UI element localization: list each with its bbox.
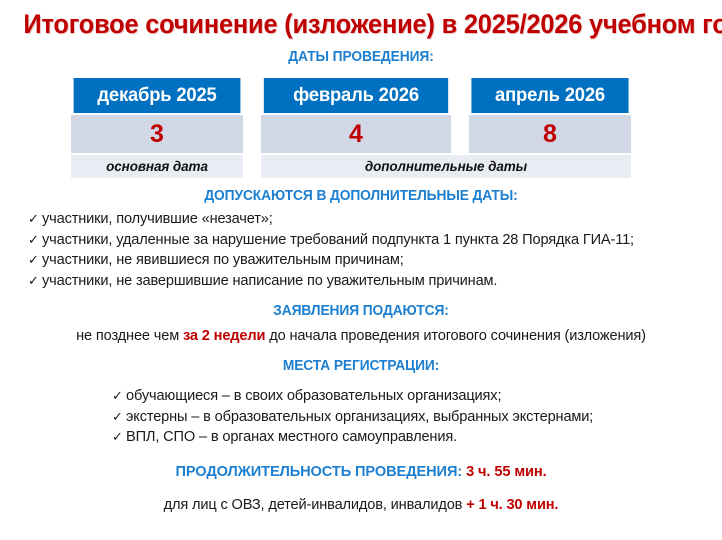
duration-value: 3 ч. 55 мин. [466, 464, 546, 480]
check-icon: ✓ [28, 230, 42, 250]
dates-heading: ДАТЫ ПРОВЕДЕНИЯ: [18, 49, 704, 65]
list-item: ✓ВПЛ, СПО – в органах местного самоуправ… [112, 427, 722, 448]
duration-label: ПРОДОЛЖИТЕЛЬНОСТЬ ПРОВЕДЕНИЯ: [175, 464, 462, 480]
check-icon: ✓ [112, 386, 126, 406]
list-item: ✓участники, получившие «незачет»; [28, 209, 722, 230]
applications-text-before: не позднее чем [76, 328, 183, 344]
admission-list: ✓участники, получившие «незачет»; ✓участ… [0, 209, 722, 291]
list-item-label: участники, удаленные за нарушение требов… [42, 232, 634, 248]
check-icon: ✓ [112, 407, 126, 427]
list-item-label: участники, не явившиеся по уважительным … [42, 252, 404, 268]
check-icon: ✓ [28, 271, 42, 291]
list-item-label: ВПЛ, СПО – в органах местного самоуправл… [126, 429, 457, 445]
dates-header-april: апрель 2026 [471, 78, 628, 113]
list-item: ✓обучающиеся – в своих образовательных о… [112, 386, 722, 407]
registration-list: ✓обучающиеся – в своих образовательных о… [0, 386, 722, 448]
applications-deadline-text: не позднее чем за 2 недели до начала про… [0, 326, 722, 346]
duration-section: ПРОДОЛЖИТЕЛЬНОСТЬ ПРОВЕДЕНИЯ: 3 ч. 55 ми… [0, 464, 722, 480]
dates-column-december: декабрь 2025 3 [71, 78, 243, 153]
list-item: ✓участники, удаленные за нарушение требо… [28, 230, 722, 251]
check-icon: ✓ [28, 209, 42, 229]
dates-column-april: апрель 2026 8 [469, 78, 631, 153]
extra-time-note: для лиц с ОВЗ, детей-инвалидов, инвалидо… [0, 497, 722, 513]
dates-section: ДАТЫ ПРОВЕДЕНИЯ: декабрь 2025 3 февраль … [0, 49, 722, 176]
page-title-bar: Итоговое сочинение (изложение) в 2025/20… [0, 0, 722, 40]
list-item-label: экстерны – в образовательных организация… [126, 409, 593, 425]
admission-heading: ДОПУСКАЮТСЯ В ДОПОЛНИТЕЛЬНЫЕ ДАТЫ: [18, 188, 704, 204]
admission-section: ДОПУСКАЮТСЯ В ДОПОЛНИТЕЛЬНЫЕ ДАТЫ: ✓учас… [0, 188, 722, 291]
list-item-label: участники, получившие «незачет»; [42, 211, 273, 227]
dates-header-december: декабрь 2025 [74, 78, 241, 113]
extra-time-value: + 1 ч. 30 мин. [466, 497, 558, 513]
applications-section: ЗАЯВЛЕНИЯ ПОДАЮТСЯ: не позднее чем за 2 … [0, 303, 722, 346]
check-icon: ✓ [28, 250, 42, 270]
registration-heading: МЕСТА РЕГИСТРАЦИИ: [18, 358, 704, 374]
check-icon: ✓ [112, 427, 126, 447]
dates-day-december: 3 [71, 115, 243, 153]
extra-time-text: для лиц с ОВЗ, детей-инвалидов, инвалидо… [164, 497, 467, 513]
applications-text-highlight: за 2 недели [183, 328, 265, 344]
applications-heading: ЗАЯВЛЕНИЯ ПОДАЮТСЯ: [18, 303, 704, 319]
dates-table: декабрь 2025 3 февраль 2026 4 апрель 202… [71, 78, 651, 176]
dates-footer-main: основная дата [71, 155, 243, 178]
dates-day-february: 4 [261, 115, 451, 153]
list-item-label: участники, не завершившие написание по у… [42, 273, 497, 289]
dates-day-april: 8 [469, 115, 631, 153]
list-item: ✓участники, не явившиеся по уважительным… [28, 250, 722, 271]
applications-text-after: до начала проведения итогового сочинения… [265, 328, 646, 344]
registration-section: МЕСТА РЕГИСТРАЦИИ: ✓обучающиеся – в свои… [0, 358, 722, 448]
dates-header-february: февраль 2026 [264, 78, 448, 113]
list-item: ✓экстерны – в образовательных организаци… [112, 407, 722, 428]
list-item: ✓участники, не завершившие написание по … [28, 271, 722, 292]
dates-footer-additional: дополнительные даты [261, 155, 631, 178]
page-title: Итоговое сочинение (изложение) в 2025/20… [23, 9, 722, 40]
list-item-label: обучающиеся – в своих образовательных ор… [126, 388, 501, 404]
dates-column-february: февраль 2026 4 [261, 78, 451, 153]
